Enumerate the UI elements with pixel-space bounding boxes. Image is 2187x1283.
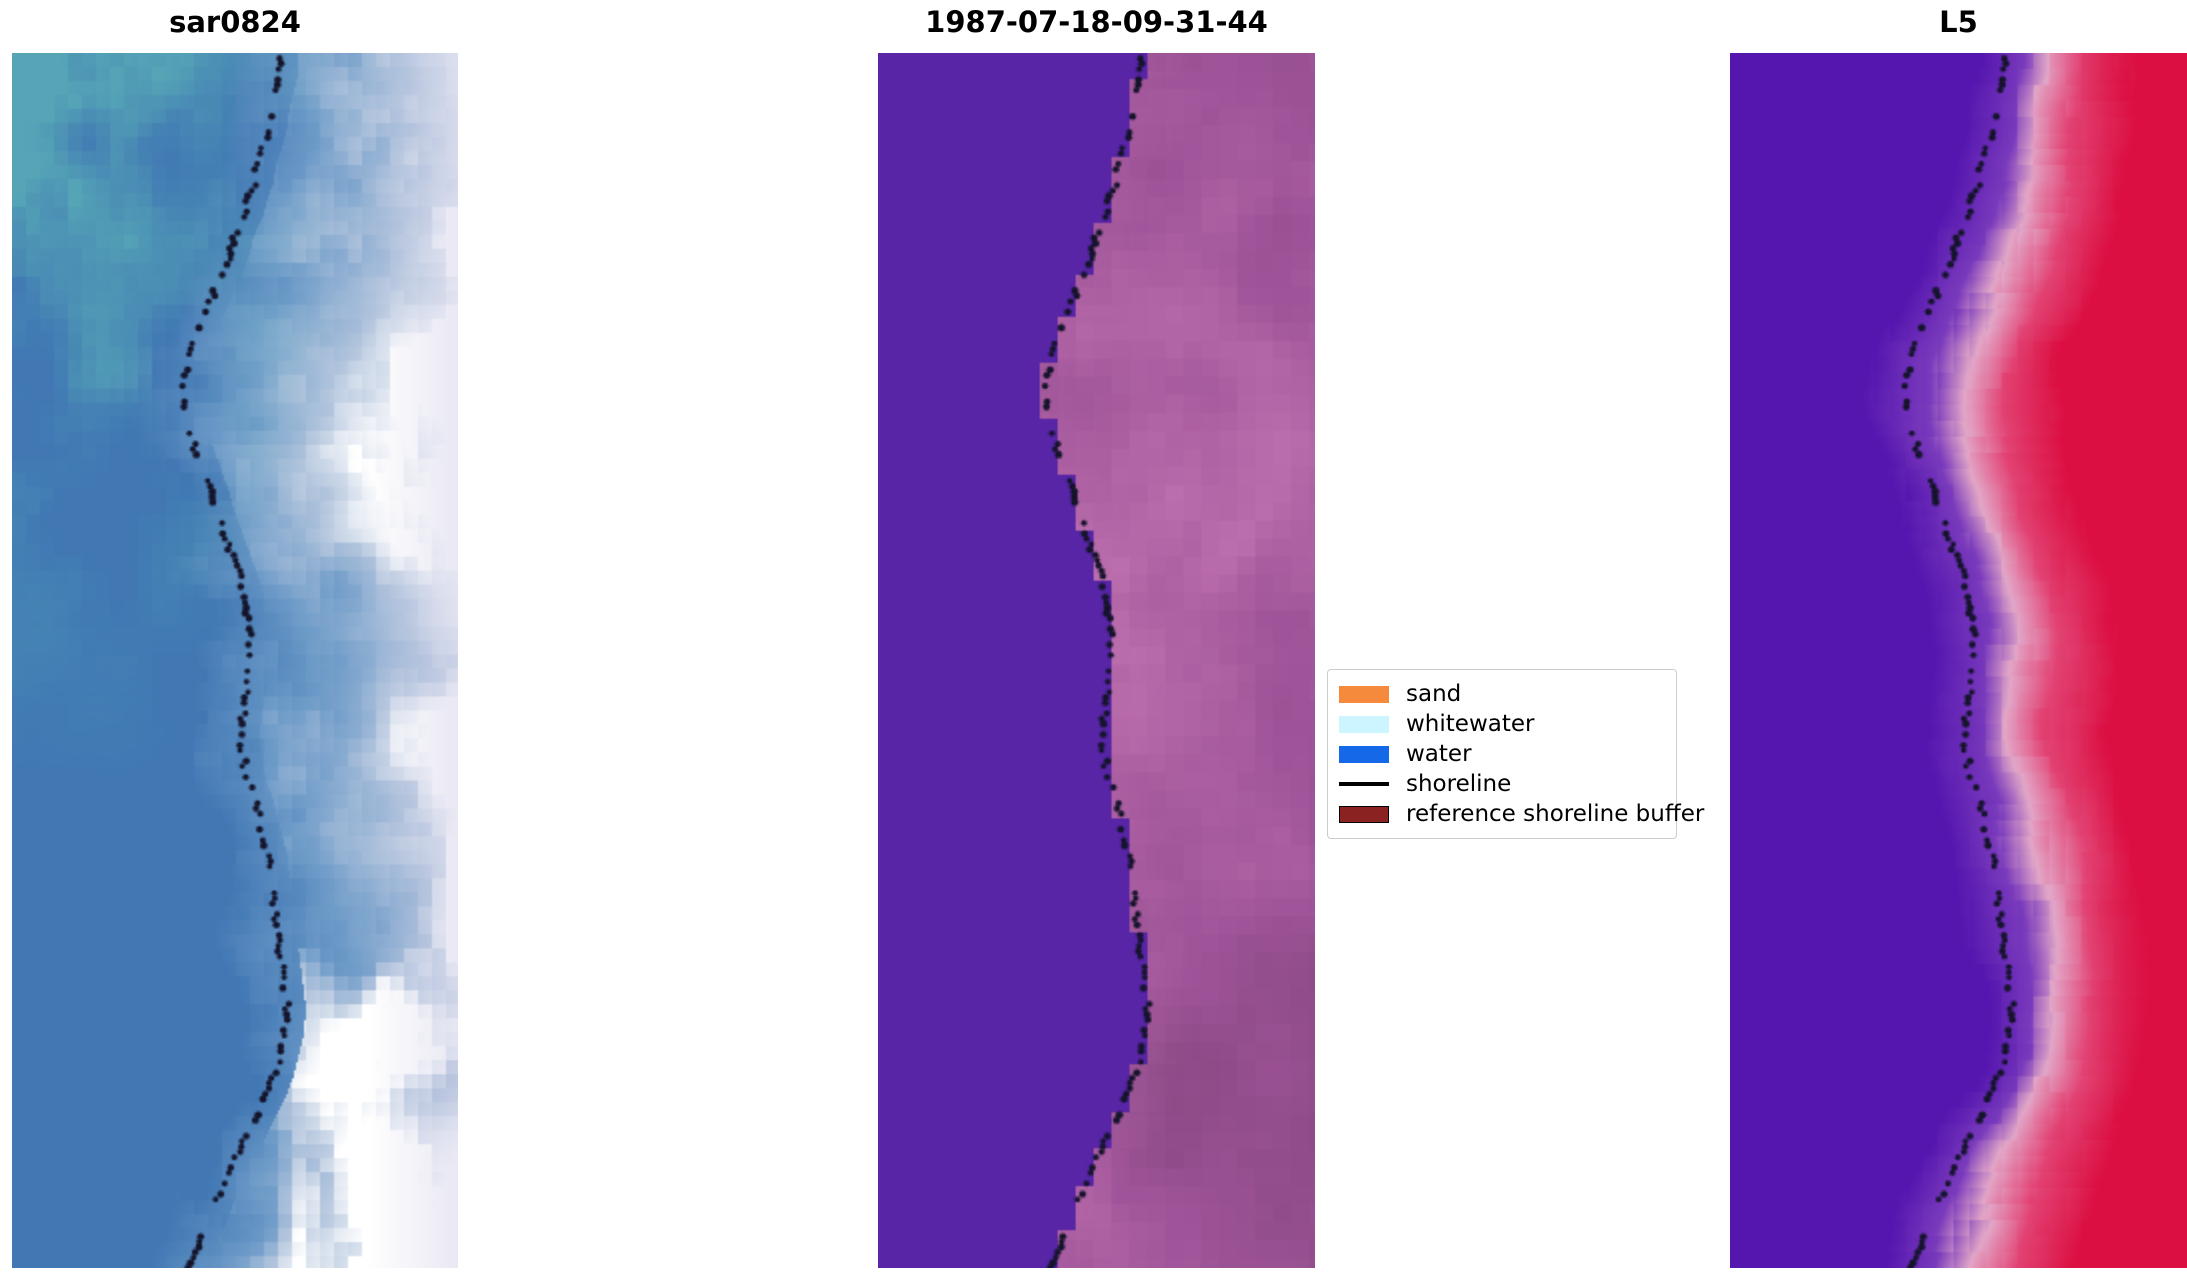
legend-swatch-reference-shoreline-buffer [1339,806,1389,823]
panel-l5-image[interactable] [1730,53,2187,1268]
legend-label-whitewater: whitewater [1406,713,1534,736]
legend-swatch-water [1339,746,1389,763]
legend-item-shoreline: shoreline [1339,769,1665,799]
legend-item-sand: sand [1339,679,1665,709]
legend-item-water: water [1339,739,1665,769]
legend-item-whitewater: whitewater [1339,709,1665,739]
legend-item-reference-shoreline-buffer: reference shoreline buffer [1339,799,1665,829]
panel-title-l5: L5 [1730,5,2187,39]
legend-box: sand whitewater water shoreline referenc… [1327,669,1677,839]
legend-swatch-sand [1339,686,1389,703]
panel-title-sar: sar0824 [12,5,458,39]
sar-raster [12,53,458,1268]
classification-raster [878,53,1315,1268]
l5-raster [1730,53,2187,1268]
panel-classification-image[interactable] [878,53,1315,1268]
legend-label-shoreline: shoreline [1406,773,1511,796]
legend-swatch-shoreline [1339,782,1389,786]
panel-title-classification: 1987-07-18-09-31-44 [878,5,1315,39]
legend-swatch-whitewater [1339,716,1389,733]
legend-label-water: water [1406,743,1472,766]
figure-canvas: sar0824 1987-07-18-09-31-44 L5 sand whit… [0,0,2187,1283]
legend-label-reference-shoreline-buffer: reference shoreline buffer [1406,803,1704,826]
panel-sar-image[interactable] [12,53,458,1268]
legend-label-sand: sand [1406,683,1461,706]
